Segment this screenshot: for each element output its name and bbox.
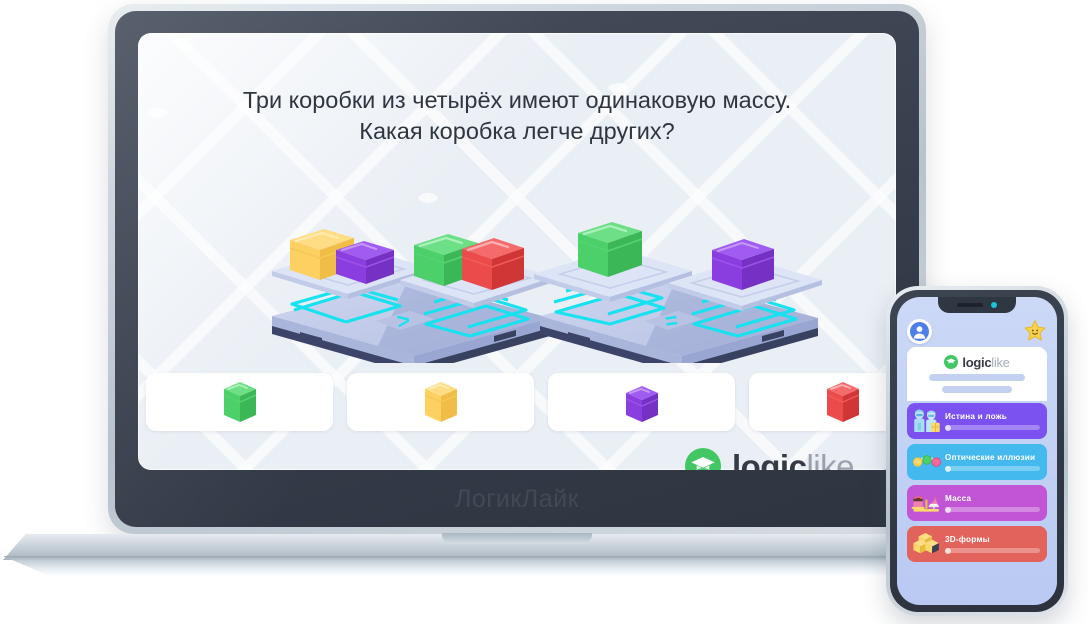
balance-cakes-icon	[910, 488, 944, 518]
progress-knob	[945, 425, 951, 431]
laptop-base	[3, 534, 1031, 578]
logo-logic-text: logic	[732, 448, 807, 471]
scale-right: =	[526, 188, 826, 363]
menu-item-optical-illusions[interactable]: Оптические иллюзии	[907, 444, 1047, 480]
yellow-blocks-icon	[910, 529, 944, 559]
laptop-device: ЛогикЛайк Три коробки из четырёх имеют о…	[108, 4, 926, 534]
user-avatar-icon	[910, 322, 929, 341]
graduation-cap-logo-icon	[685, 448, 721, 470]
laptop-base-notch	[442, 533, 592, 544]
phone-device: logiclike	[886, 286, 1068, 616]
menu-item-progress	[945, 466, 1040, 471]
menu-item-label: Масса	[945, 495, 971, 503]
box-red-icon	[823, 378, 863, 426]
answer-card-purple[interactable]	[548, 373, 735, 431]
laptop-brand-text: ЛогикЛайк	[108, 485, 926, 514]
menu-item-3d-shapes[interactable]: 3D-формы	[907, 526, 1047, 562]
logo-like-text: like	[806, 448, 854, 471]
menu-item-truth-and-lie[interactable]: Истина и ложь	[907, 403, 1047, 439]
question-text: Три коробки из четырёх имеют одинаковую …	[174, 85, 860, 147]
phone-logiclike-logo: logiclike	[944, 355, 1009, 369]
progress-knob	[945, 548, 951, 554]
two-characters-icon	[910, 406, 944, 436]
scale-left-svg: >	[258, 188, 558, 363]
menu-item-label: 3D-формы	[945, 536, 990, 544]
laptop-base-front	[3, 556, 1031, 576]
logiclike-logo: logiclike	[685, 448, 854, 470]
laptop-screen: Три коробки из четырёх имеют одинаковую …	[138, 33, 896, 470]
answer-options	[146, 373, 896, 431]
menu-item-progress	[945, 425, 1040, 430]
phone-menu-list: Истина и ложь Оптические иллюзии	[907, 403, 1047, 562]
box-green-icon	[220, 378, 260, 426]
box-purple-icon	[622, 378, 662, 426]
progress-knob	[945, 466, 951, 472]
phone-graduation-cap-logo-icon	[944, 355, 958, 369]
scale-right-svg: =	[526, 188, 826, 363]
star-badge-icon[interactable]	[1023, 319, 1047, 343]
phone-placeholder-bar-1	[929, 374, 1025, 381]
menu-item-progress	[945, 507, 1040, 512]
question-line-1: Три коробки из четырёх имеют одинаковую …	[174, 85, 860, 116]
phone-wordmark: logiclike	[962, 356, 1009, 369]
phone-topbar	[897, 315, 1057, 347]
menu-item-label: Истина и ложь	[945, 413, 1007, 421]
phone-screen: logiclike	[897, 297, 1057, 605]
phone-logo-like-text: like	[991, 355, 1009, 370]
answer-card-red[interactable]	[749, 373, 896, 431]
scale-left: >	[258, 188, 558, 363]
progress-knob	[945, 507, 951, 513]
scales-illustration: >	[138, 188, 896, 363]
menu-item-mass[interactable]: Масса	[907, 485, 1047, 521]
phone-placeholder-bar-2	[942, 386, 1012, 393]
avatar[interactable]	[907, 319, 932, 344]
phone-body: logiclike	[890, 290, 1064, 612]
box-yellow-icon	[421, 378, 461, 426]
three-circles-icon	[910, 447, 944, 477]
answer-card-yellow[interactable]	[347, 373, 534, 431]
screenshot-root: ЛогикЛайк Три коробки из четырёх имеют о…	[0, 0, 1088, 624]
menu-item-progress	[945, 548, 1040, 553]
phone-camera-icon	[991, 302, 997, 308]
phone-header-card: logiclike	[907, 347, 1047, 401]
phone-speaker	[957, 303, 983, 307]
answer-card-green[interactable]	[146, 373, 333, 431]
question-line-2: Какая коробка легче других?	[174, 116, 860, 147]
logiclike-wordmark: logiclike	[732, 450, 854, 471]
phone-logo-logic-text: logic	[962, 355, 991, 370]
menu-item-label: Оптические иллюзии	[945, 454, 1035, 462]
phone-notch	[938, 297, 1016, 313]
